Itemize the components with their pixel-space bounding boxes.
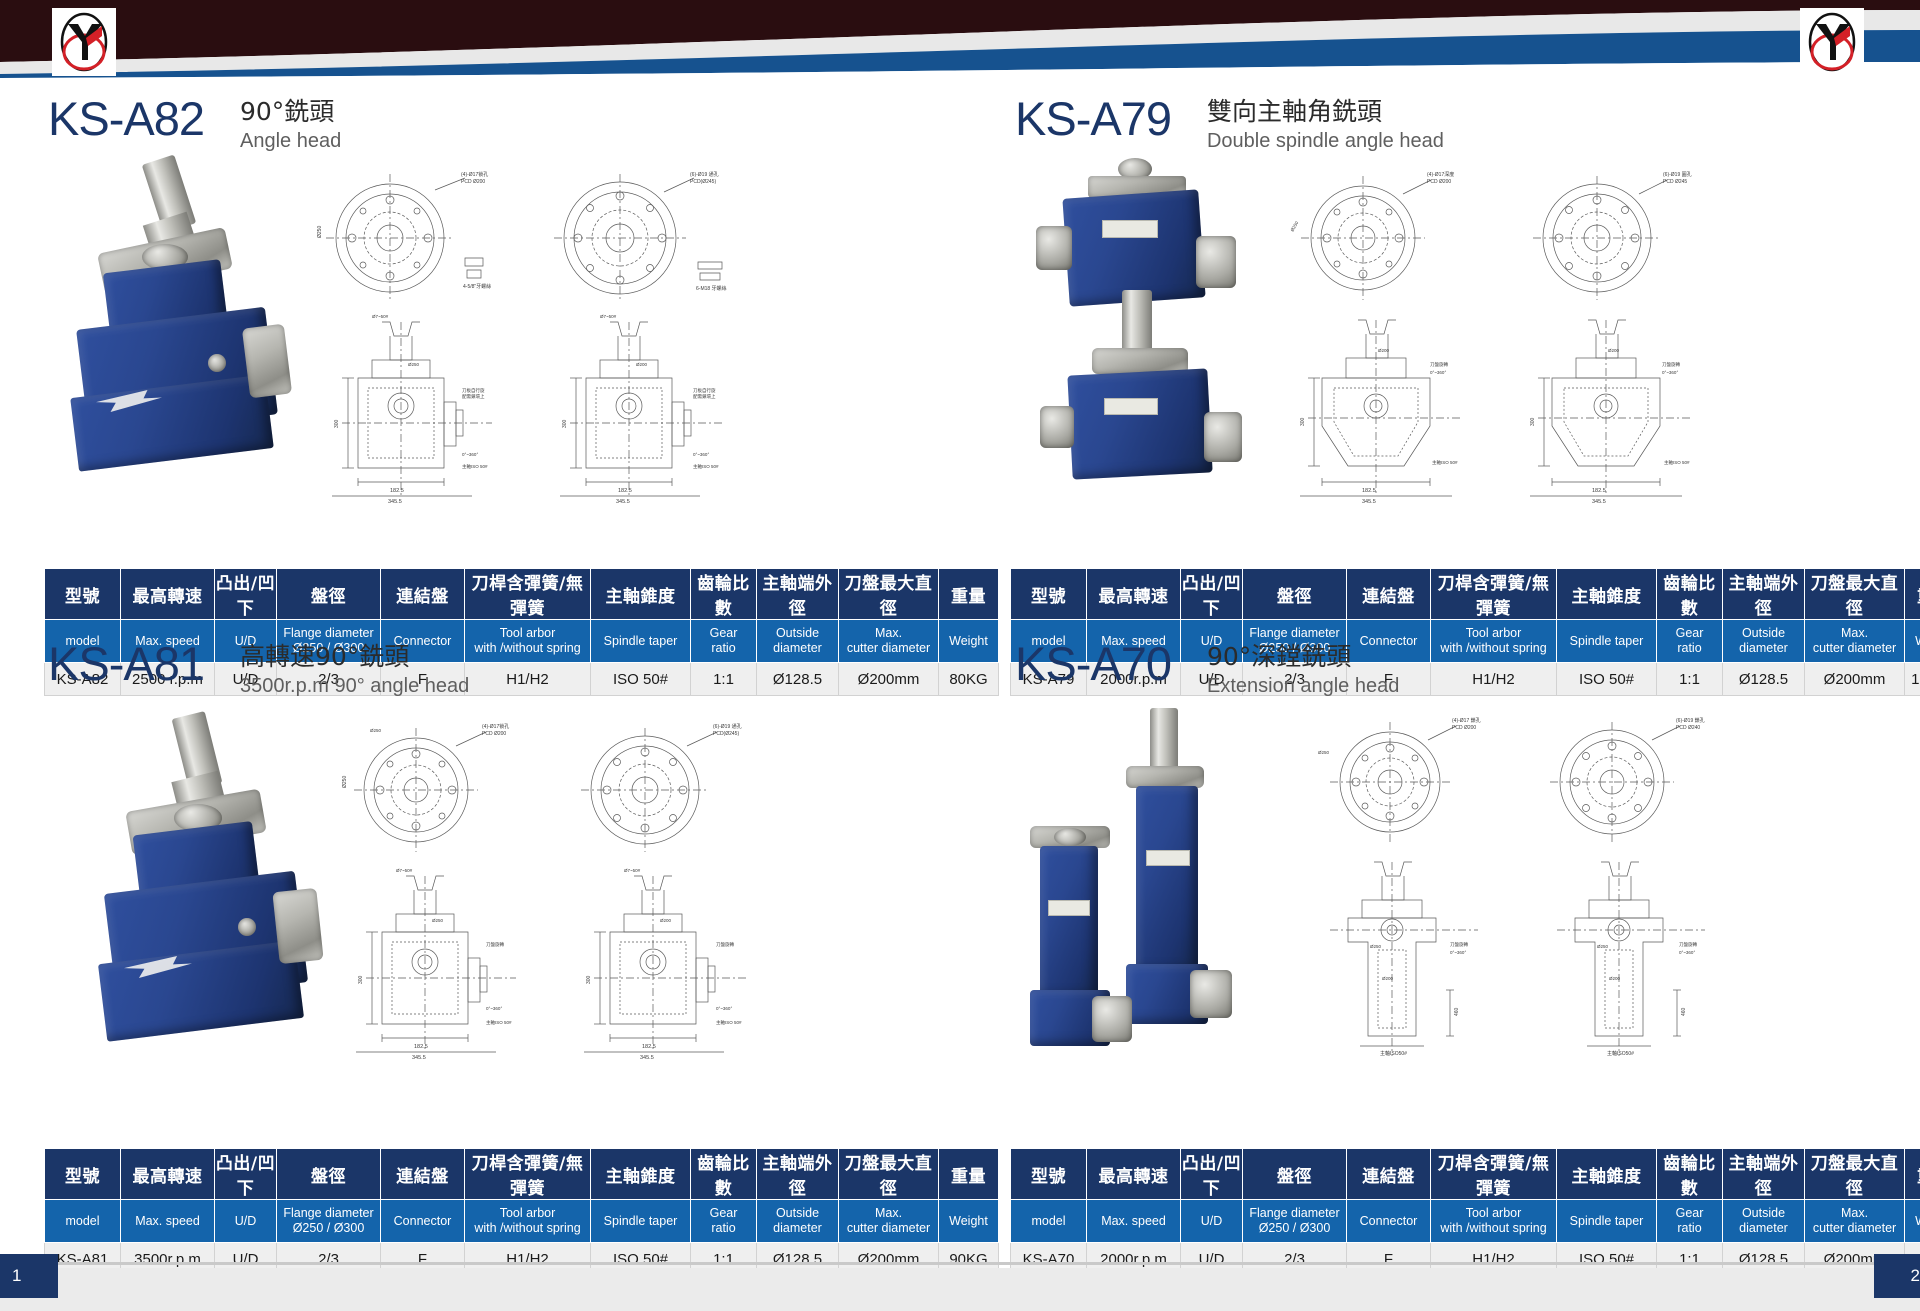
svg-text:刀盤旋轉: 刀盤旋轉 (1679, 941, 1697, 948)
svg-text:主軸ISO 50#: 主軸ISO 50# (1664, 459, 1690, 466)
svg-text:Ø7~50#: Ø7~50# (372, 314, 389, 319)
svg-text:345.5: 345.5 (1362, 499, 1376, 504)
svg-text:PCD Ø200: PCD Ø200 (461, 179, 485, 185)
product-title-en: Angle head (240, 129, 341, 153)
product-block-ks-a81: KS-A81 高轉速90°銑頭 3500r.p.m 90° angle head (0, 648, 960, 1248)
drawing-front-view: (4)-Ø17深度 PCD Ø200 Ø250 (1285, 166, 1475, 306)
svg-text:4-5/8"牙螺絲: 4-5/8"牙螺絲 (463, 283, 491, 290)
product-title-en: Extension angle head (1207, 674, 1399, 698)
svg-text:Ø200: Ø200 (660, 918, 672, 923)
right-output-ring (1196, 236, 1236, 288)
svg-text:0°~360°: 0°~360° (1430, 370, 1446, 375)
th-cn-outside: 主軸端外徑 (1723, 1149, 1805, 1200)
th-cn-gear: 齒輪比數 (691, 1149, 757, 1200)
extension-column-right (1136, 786, 1198, 972)
th-cn-cutter: 刀盤最大直徑 (839, 1149, 939, 1200)
th-cn-arbor: 刀桿含彈簧/無彈簧 (1431, 1149, 1557, 1200)
th-en-model: model (45, 1200, 121, 1243)
svg-text:0°~360°: 0°~360° (1662, 370, 1678, 375)
product-title-en: 3500r.p.m 90° angle head (240, 674, 469, 698)
th-cn-gear: 齒輪比數 (1657, 1149, 1723, 1200)
svg-text:PCD(Ø245): PCD(Ø245) (713, 731, 739, 737)
svg-text:300: 300 (1300, 417, 1306, 426)
svg-text:Ø250: Ø250 (1370, 944, 1382, 949)
svg-text:Ø200: Ø200 (1608, 348, 1620, 353)
th-en-flange: Flange diameterØ250 / Ø300 (1243, 1200, 1347, 1243)
th-cn-model: 型號 (45, 569, 121, 620)
th-cn-connector: 連結盤 (381, 569, 465, 620)
svg-text:345.5: 345.5 (1592, 499, 1606, 504)
drawing-front-view: (4)-Ø17锁孔 PCD Ø200 Ø250 4-5/8"牙螺絲 (315, 166, 505, 306)
svg-text:主軸ISO 50#: 主軸ISO 50# (1432, 459, 1458, 466)
svg-text:182.5: 182.5 (1592, 488, 1606, 494)
svg-text:182.5: 182.5 (414, 1044, 428, 1050)
th-cn-outside: 主軸端外徑 (757, 569, 839, 620)
th-en-arbor: Tool arborwith /without spring (1431, 1200, 1557, 1243)
product-code: KS-A82 (48, 95, 204, 142)
th-cn-gear: 齒輪比數 (1657, 569, 1723, 620)
drawing-section-left: 300 182.5 345.5 Ø7~50# 刀板自行旋 配需鎖環上 0°~36… (312, 306, 522, 504)
svg-text:刀盤旋轉: 刀盤旋轉 (486, 941, 504, 948)
product-title-cn: 雙向主軸角銑頭 (1207, 98, 1444, 127)
th-en-ud: U/D (215, 1200, 277, 1243)
product-title-cn: 高轉速90°銑頭 (240, 643, 469, 672)
svg-text:0°~360°: 0°~360° (486, 1006, 502, 1011)
logo-icon (1806, 12, 1858, 72)
svg-text:0°~360°: 0°~360° (693, 452, 709, 457)
svg-text:Ø200: Ø200 (1609, 976, 1621, 981)
svg-text:6-M18 牙螺絲: 6-M18 牙螺絲 (696, 285, 727, 292)
output-ring-left (1092, 996, 1132, 1042)
svg-text:(4)-Ø17锁孔: (4)-Ø17锁孔 (461, 171, 488, 178)
output-nut (238, 918, 256, 936)
th-cn-ud: 凸出/凹下 (215, 1149, 277, 1200)
svg-text:PCD Ø200: PCD Ø200 (1452, 725, 1476, 731)
th-en-connector: Connector (1347, 1200, 1431, 1243)
svg-text:300: 300 (1530, 417, 1536, 426)
th-en-taper: Spindle taper (591, 1200, 691, 1243)
th-cn-model: 型號 (1011, 569, 1087, 620)
product-code: KS-A70 (1015, 640, 1171, 687)
tool-taper (1150, 708, 1178, 770)
svg-text:主軸ISO 50#: 主軸ISO 50# (462, 463, 488, 470)
product-title-cn: 90°銑頭 (240, 98, 341, 127)
th-cn-model: 型號 (1011, 1149, 1087, 1200)
svg-text:(6)-Ø19 通孔: (6)-Ø19 通孔 (690, 171, 719, 178)
drawing-section-left: 460 主軸ISO50# 刀盤旋轉 0°~360° Ø250 Ø200 (1300, 850, 1510, 1065)
svg-text:(6)-Ø19 鎖孔: (6)-Ø19 鎖孔 (1676, 717, 1705, 724)
extension-column-left (1040, 846, 1098, 998)
footer-bar (0, 1268, 1920, 1311)
product-block-ks-a70: KS-A70 90°深鏜銑頭 Extension angle head (960, 648, 1920, 1248)
svg-text:主軸ISO50#: 主軸ISO50# (1380, 1050, 1407, 1057)
product-photo (1010, 708, 1270, 1053)
svg-text:PCD(Ø245): PCD(Ø245) (690, 179, 716, 185)
th-cn-cutter: 刀盤最大直徑 (1805, 569, 1905, 620)
product-image-area: (4)-Ø17深度 PCD Ø200 Ø250 (6)-Ø19 圓孔 PCD Ø… (1000, 158, 1880, 528)
product-title-row: KS-A82 90°銑頭 Angle head (48, 95, 341, 153)
svg-text:Ø7~50#: Ø7~50# (396, 868, 413, 873)
th-en-taper: Spindle taper (1557, 1200, 1657, 1243)
footer-divider (0, 1262, 1920, 1265)
svg-text:主軸ISO 50#: 主軸ISO 50# (716, 1019, 742, 1026)
svg-text:主軸ISO 50#: 主軸ISO 50# (486, 1019, 512, 1026)
svg-text:PCD Ø240: PCD Ø240 (1676, 725, 1700, 731)
drawing-section-right: 460 主軸ISO50# 刀盤旋轉 0°~360° Ø250 Ø200 (1525, 850, 1740, 1065)
product-code: KS-A81 (48, 640, 204, 687)
th-en-cutter: Max.cutter diameter (839, 1200, 939, 1243)
svg-text:PCD Ø200: PCD Ø200 (1427, 179, 1451, 185)
svg-text:PCD Ø245: PCD Ø245 (1663, 179, 1687, 185)
th-en-connector: Connector (381, 1200, 465, 1243)
th-cn-flange: 盤徑 (277, 1149, 381, 1200)
company-logo-right (1800, 8, 1864, 76)
svg-text:配需鎖環上: 配需鎖環上 (693, 393, 716, 400)
lower-right-ring (1204, 412, 1242, 462)
th-cn-flange: 盤徑 (1243, 1149, 1347, 1200)
svg-text:182.5: 182.5 (390, 488, 404, 494)
svg-text:Ø7~50#: Ø7~50# (600, 314, 617, 319)
th-cn-flange: 盤徑 (277, 569, 381, 620)
th-cn-speed: 最高轉速 (1087, 1149, 1181, 1200)
svg-text:Ø250: Ø250 (1318, 750, 1330, 755)
th-cn-arbor: 刀桿含彈簧/無彈簧 (1431, 569, 1557, 620)
th-cn-outside: 主軸端外徑 (1723, 569, 1805, 620)
drawing-section-right: 300 182.5 345.5 刀盤旋轉 0°~360° 主軸ISO 50# Ø… (1510, 306, 1725, 504)
th-en-gear: Gearratio (691, 1200, 757, 1243)
svg-text:460: 460 (1681, 1007, 1687, 1016)
th-en-model: model (1011, 1200, 1087, 1243)
th-cn-connector: 連結盤 (381, 1149, 465, 1200)
th-cn-taper: 主軸錐度 (591, 1149, 691, 1200)
spec-table-ks-a81: 型號 最高轉速 凸出/凹下 盤徑 連結盤 刀桿含彈簧/無彈簧 主軸錐度 齒輪比數… (44, 1148, 999, 1276)
th-en-speed: Max. speed (1087, 1200, 1181, 1243)
th-cn-speed: 最高轉速 (121, 569, 215, 620)
svg-text:配需鎖環上: 配需鎖環上 (462, 393, 485, 400)
svg-text:345.5: 345.5 (412, 1055, 426, 1060)
th-cn-ud: 凸出/凹下 (1181, 569, 1243, 620)
svg-text:刀盤旋轉: 刀盤旋轉 (1430, 361, 1448, 368)
table-header-cn: 型號 最高轉速 凸出/凹下 盤徑 連結盤 刀桿含彈簧/無彈簧 主軸錐度 齒輪比數… (1011, 1149, 1920, 1200)
th-cn-weight: 重量 (1905, 569, 1920, 620)
top-flange-right (1126, 766, 1204, 788)
table-header-cn: 型號 最高轉速 凸出/凹下 盤徑 連結盤 刀桿含彈簧/無彈簧 主軸錐度 齒輪比數… (45, 1149, 999, 1200)
th-cn-speed: 最高轉速 (121, 1149, 215, 1200)
product-photo (80, 714, 340, 1054)
output-nut (208, 354, 226, 372)
output-flange (242, 324, 292, 399)
th-cn-outside: 主軸端外徑 (757, 1149, 839, 1200)
th-cn-model: 型號 (45, 1149, 121, 1200)
svg-text:345.5: 345.5 (388, 499, 402, 504)
product-code: KS-A79 (1015, 95, 1171, 142)
svg-text:(6)-Ø19 圓孔: (6)-Ø19 圓孔 (1663, 171, 1692, 178)
th-cn-taper: 主軸錐度 (591, 569, 691, 620)
drawing-rear-view: (6)-Ø19 鎖孔 PCD Ø240 (1530, 714, 1730, 849)
lower-housing (1067, 368, 1212, 479)
svg-text:460: 460 (1454, 1007, 1460, 1016)
svg-text:刀板自行旋: 刀板自行旋 (462, 387, 485, 394)
svg-text:(4)-Ø17 鎖孔: (4)-Ø17 鎖孔 (1452, 717, 1481, 724)
table-header-cn: 型號 最高轉速 凸出/凹下 盤徑 連結盤 刀桿含彈簧/無彈簧 主軸錐度 齒輪比數… (45, 569, 999, 620)
th-cn-taper: 主軸錐度 (1557, 569, 1657, 620)
th-en-ud: U/D (1181, 1200, 1243, 1243)
table-header-cn: 型號 最高轉速 凸出/凹下 盤徑 連結盤 刀桿含彈簧/無彈簧 主軸錐度 齒輪比數… (1011, 569, 1920, 620)
svg-text:(4)-Ø17锁孔: (4)-Ø17锁孔 (482, 723, 509, 730)
svg-text:主軸ISO 50#: 主軸ISO 50# (693, 463, 719, 470)
logo-icon (58, 12, 110, 72)
svg-text:300: 300 (358, 975, 364, 984)
th-en-weight: Weight (1905, 1200, 1920, 1243)
svg-text:0°~360°: 0°~360° (716, 1006, 732, 1011)
product-title-row: KS-A79 雙向主軸角銑頭 Double spindle angle head (1015, 95, 1444, 153)
svg-text:0°~360°: 0°~360° (1450, 950, 1466, 955)
svg-text:345.5: 345.5 (616, 499, 630, 504)
header-banner (0, 0, 1920, 78)
company-logo-left (52, 8, 116, 76)
th-cn-cutter: 刀盤最大直徑 (839, 569, 939, 620)
table-header-en: model Max. speed U/D Flange diameterØ250… (1011, 1200, 1920, 1243)
top-bore-left (1054, 828, 1086, 846)
output-flange (272, 888, 323, 964)
svg-text:0°~360°: 0°~360° (1679, 950, 1695, 955)
product-photo (60, 158, 310, 488)
th-en-speed: Max. speed (121, 1200, 215, 1243)
svg-text:Ø250: Ø250 (317, 226, 323, 238)
page-number-right: 2 (1874, 1254, 1920, 1298)
th-cn-connector: 連結盤 (1347, 569, 1431, 620)
svg-text:刀盤旋轉: 刀盤旋轉 (1662, 361, 1680, 368)
page-number-left: 1 (0, 1254, 58, 1298)
drawing-section-right: 300 182.5 345.5 Ø7~50# 刀盤旋轉 0°~360° 主軸IS… (562, 860, 777, 1060)
th-en-cutter: Max.cutter diameter (1805, 1200, 1905, 1243)
product-photo (1010, 158, 1270, 498)
svg-text:(4)-Ø17深度: (4)-Ø17深度 (1427, 171, 1454, 178)
th-cn-cutter: 刀盤最大直徑 (1805, 1149, 1905, 1200)
drawing-rear-view: (6)-Ø19 圓孔 PCD Ø245 (1515, 166, 1715, 306)
svg-text:Ø250: Ø250 (1290, 220, 1300, 232)
svg-text:300: 300 (586, 975, 592, 984)
svg-text:345.5: 345.5 (640, 1055, 654, 1060)
svg-text:PCD Ø200: PCD Ø200 (482, 731, 506, 737)
product-block-ks-a82: KS-A82 90°銑頭 Angle head (0, 78, 960, 648)
th-cn-ud: 凸出/凹下 (215, 569, 277, 620)
table-header-en: model Max. speed U/D Flange diameterØ250… (45, 1200, 999, 1243)
spec-label-left (1048, 900, 1090, 916)
svg-text:Ø200: Ø200 (636, 362, 648, 367)
drawing-front-view: (4)-Ø17 鎖孔 PCD Ø200 Ø250 (1310, 714, 1500, 849)
tool-taper (1122, 290, 1152, 356)
svg-text:Ø200: Ø200 (1378, 348, 1390, 353)
product-image-area: (4)-Ø17 鎖孔 PCD Ø200 Ø250 (6)-Ø19 鎖孔 PCD … (1000, 708, 1880, 1088)
th-cn-ud: 凸出/凹下 (1181, 1149, 1243, 1200)
svg-text:Ø250: Ø250 (1597, 944, 1609, 949)
th-en-outside: Outsidediameter (757, 1200, 839, 1243)
svg-text:182.5: 182.5 (618, 488, 632, 494)
drawing-rear-view: (6)-Ø19 通孔 PCD(Ø245) (565, 718, 765, 858)
svg-text:0°~360°: 0°~360° (462, 452, 478, 457)
th-cn-flange: 盤徑 (1243, 569, 1347, 620)
drawing-rear-view: (6)-Ø19 通孔 PCD(Ø245) 6-M18 牙螺絲 (540, 166, 740, 306)
th-cn-arbor: 刀桿含彈簧/無彈簧 (465, 1149, 591, 1200)
product-image-area: (4)-Ø17锁孔 PCD Ø200 Ø250 4-5/8"牙螺絲 (6)-Ø1… (40, 158, 920, 528)
svg-text:刀盤旋轉: 刀盤旋轉 (716, 941, 734, 948)
svg-text:182.5: 182.5 (642, 1044, 656, 1050)
product-block-ks-a79: KS-A79 雙向主軸角銑頭 Double spindle angle head (960, 78, 1920, 648)
th-en-gear: Gearratio (1657, 1200, 1723, 1243)
spec-table-ks-a70: 型號 最高轉速 凸出/凹下 盤徑 連結盤 刀桿含彈簧/無彈簧 主軸錐度 齒輪比數… (1010, 1148, 1920, 1276)
drawing-section-left: 300 182.5 345.5 刀盤旋轉 0°~360° 主軸ISO 50# Ø… (1282, 306, 1497, 504)
svg-text:300: 300 (562, 419, 568, 428)
th-en-flange: Flange diameterØ250 / Ø300 (277, 1200, 381, 1243)
product-image-area: (4)-Ø17锁孔 PCD Ø200 Ø250 Ø250 (6)-Ø19 通孔 … (40, 708, 920, 1088)
svg-text:Ø250: Ø250 (432, 918, 444, 923)
th-cn-speed: 最高轉速 (1087, 569, 1181, 620)
product-title-row: KS-A70 90°深鏜銑頭 Extension angle head (1015, 640, 1399, 698)
output-ring-right (1190, 970, 1232, 1018)
product-title-row: KS-A81 高轉速90°銑頭 3500r.p.m 90° angle head (48, 640, 469, 698)
th-en-outside: Outsidediameter (1723, 1200, 1805, 1243)
svg-text:Ø7~50#: Ø7~50# (624, 868, 641, 873)
spec-label-right (1146, 850, 1190, 866)
th-cn-taper: 主軸錐度 (1557, 1149, 1657, 1200)
svg-text:主軸ISO50#: 主軸ISO50# (1607, 1050, 1634, 1057)
left-output-ring (1036, 226, 1072, 270)
spec-label (1102, 220, 1158, 238)
svg-text:刀盤旋轉: 刀盤旋轉 (1450, 941, 1468, 948)
drawing-front-view: (4)-Ø17锁孔 PCD Ø200 Ø250 Ø250 (340, 718, 530, 858)
svg-text:Ø250: Ø250 (370, 728, 382, 733)
lower-left-ring (1040, 406, 1074, 448)
th-cn-gear: 齒輪比數 (691, 569, 757, 620)
product-title-cn: 90°深鏜銑頭 (1207, 643, 1399, 672)
svg-text:182.5: 182.5 (1362, 488, 1376, 494)
svg-text:Ø250: Ø250 (408, 362, 420, 367)
th-cn-weight: 重量 (1905, 1149, 1920, 1200)
svg-text:Ø200: Ø200 (1382, 976, 1394, 981)
svg-text:刀板自行旋: 刀板自行旋 (693, 387, 716, 394)
drawing-section-left: 300 182.5 345.5 Ø7~50# 刀盤旋轉 0°~360° 主軸IS… (336, 860, 546, 1060)
svg-text:Ø250: Ø250 (342, 776, 348, 788)
drawing-section-right: 300 182.5 345.5 Ø7~50# 刀板自行旋 配需鎖環上 0°~36… (538, 306, 753, 504)
product-title-en: Double spindle angle head (1207, 129, 1444, 153)
svg-text:(6)-Ø19 通孔: (6)-Ø19 通孔 (713, 723, 742, 730)
th-cn-connector: 連結盤 (1347, 1149, 1431, 1200)
th-en-arbor: Tool arborwith /without spring (465, 1200, 591, 1243)
th-cn-arbor: 刀桿含彈簧/無彈簧 (465, 569, 591, 620)
spec-label-lower (1104, 398, 1158, 415)
svg-text:300: 300 (334, 419, 340, 428)
